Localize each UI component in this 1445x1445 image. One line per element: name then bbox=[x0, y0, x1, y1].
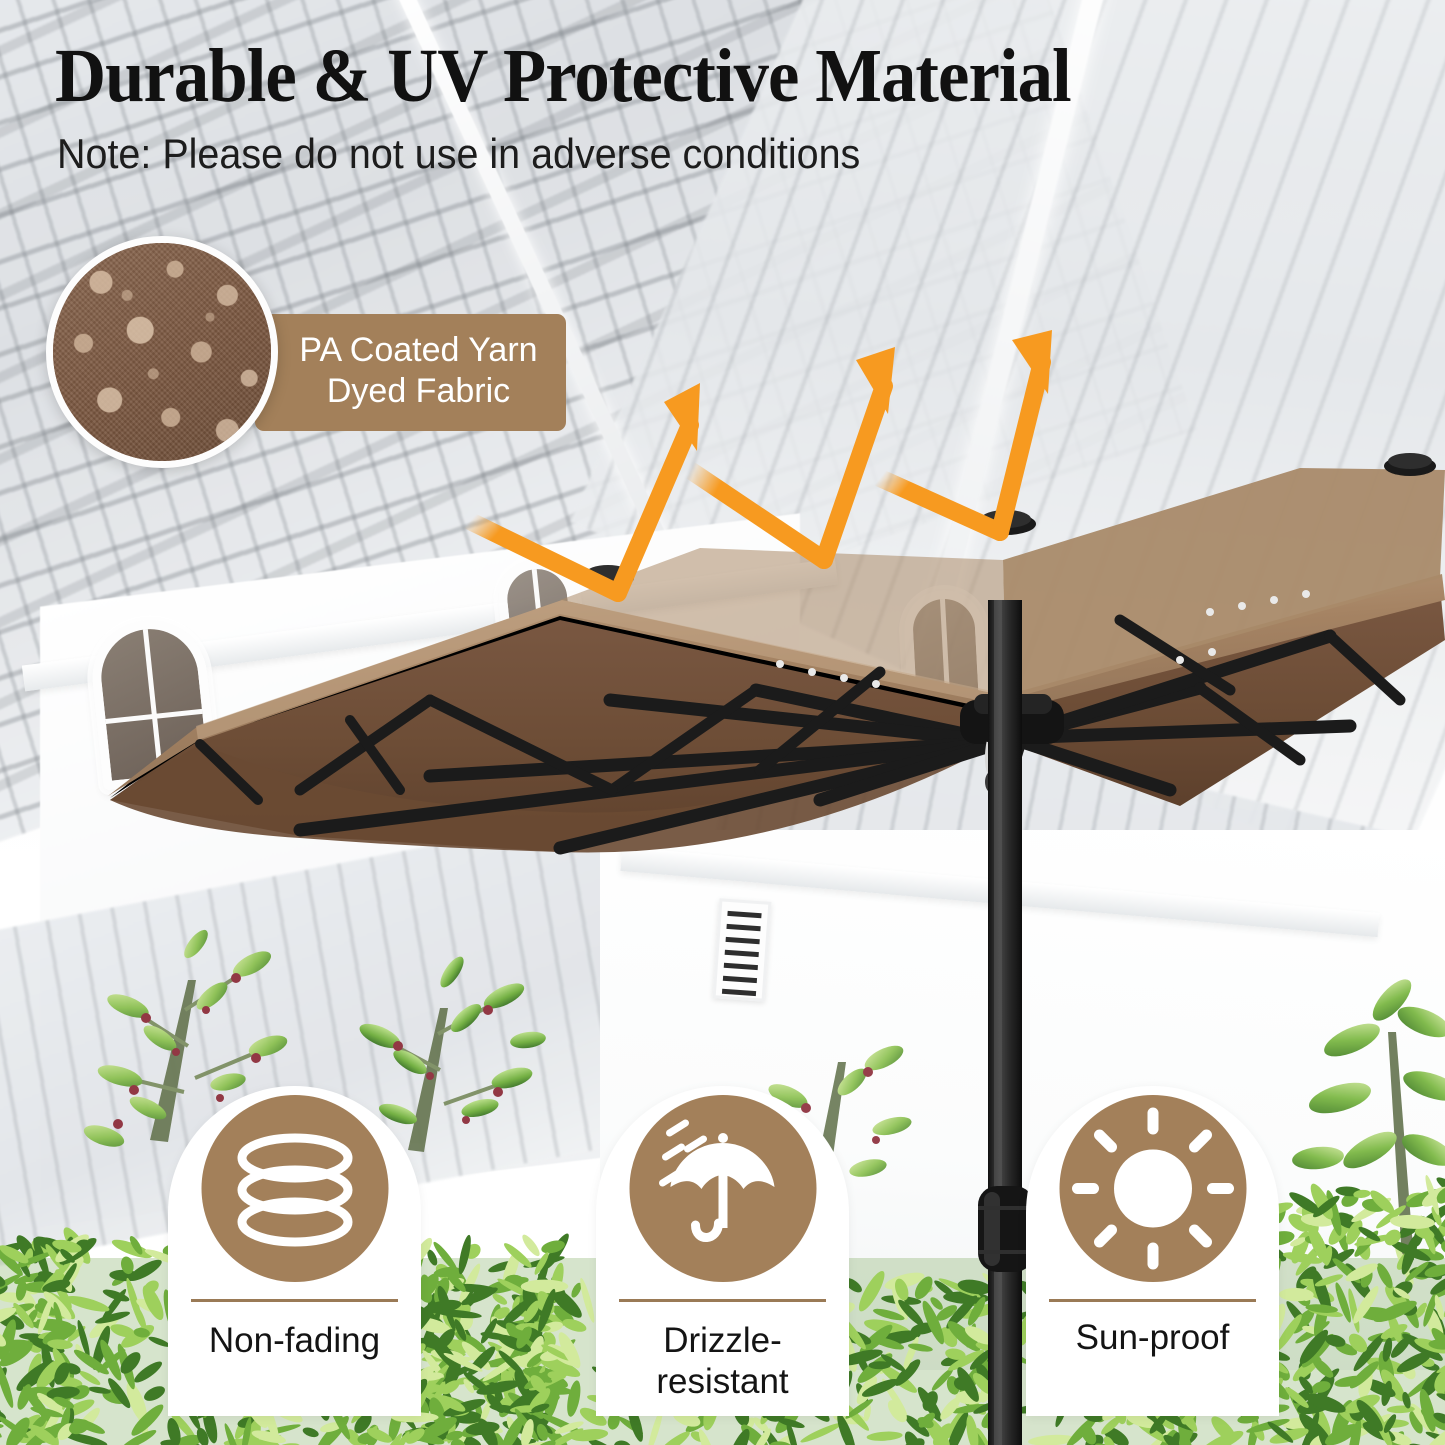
page-title: Durable & UV Protective Material bbox=[55, 38, 1218, 116]
fabric-swatch-icon bbox=[46, 236, 278, 468]
fabric-water-beading-texture bbox=[53, 243, 271, 461]
sun-icon bbox=[1059, 1095, 1246, 1282]
feature-card-sun-proof: Sun-proof bbox=[1026, 1086, 1279, 1416]
fabric-callout-line2: Dyed Fabric bbox=[285, 371, 552, 412]
feature-label: Sun-proof bbox=[1032, 1318, 1273, 1359]
card-divider bbox=[191, 1299, 398, 1302]
fabric-callout: PA Coated Yarn Dyed Fabric bbox=[46, 236, 566, 472]
feature-label-line2: resistant bbox=[656, 1362, 788, 1401]
fabric-callout-label: PA Coated Yarn Dyed Fabric bbox=[255, 314, 566, 431]
feature-card-non-fading: Non-fading bbox=[168, 1086, 421, 1416]
feature-label: Non-fading bbox=[174, 1321, 415, 1362]
product-feature-banner: Durable & UV Protective Material Note: P… bbox=[0, 0, 1445, 1445]
fabric-layers-icon bbox=[201, 1095, 388, 1282]
umbrella-rain-icon bbox=[629, 1095, 816, 1282]
card-divider bbox=[1049, 1299, 1256, 1302]
fabric-callout-line1: PA Coated Yarn bbox=[285, 330, 552, 371]
card-divider bbox=[619, 1299, 826, 1302]
page-subtitle: Note: Please do not use in adverse condi… bbox=[57, 132, 1232, 176]
feature-card-drizzle-resistant: Drizzle- resistant bbox=[596, 1086, 849, 1416]
feature-label: Drizzle- resistant bbox=[602, 1321, 843, 1402]
feature-label-line1: Drizzle- bbox=[663, 1321, 782, 1360]
umbrella-pole bbox=[988, 600, 1022, 1445]
